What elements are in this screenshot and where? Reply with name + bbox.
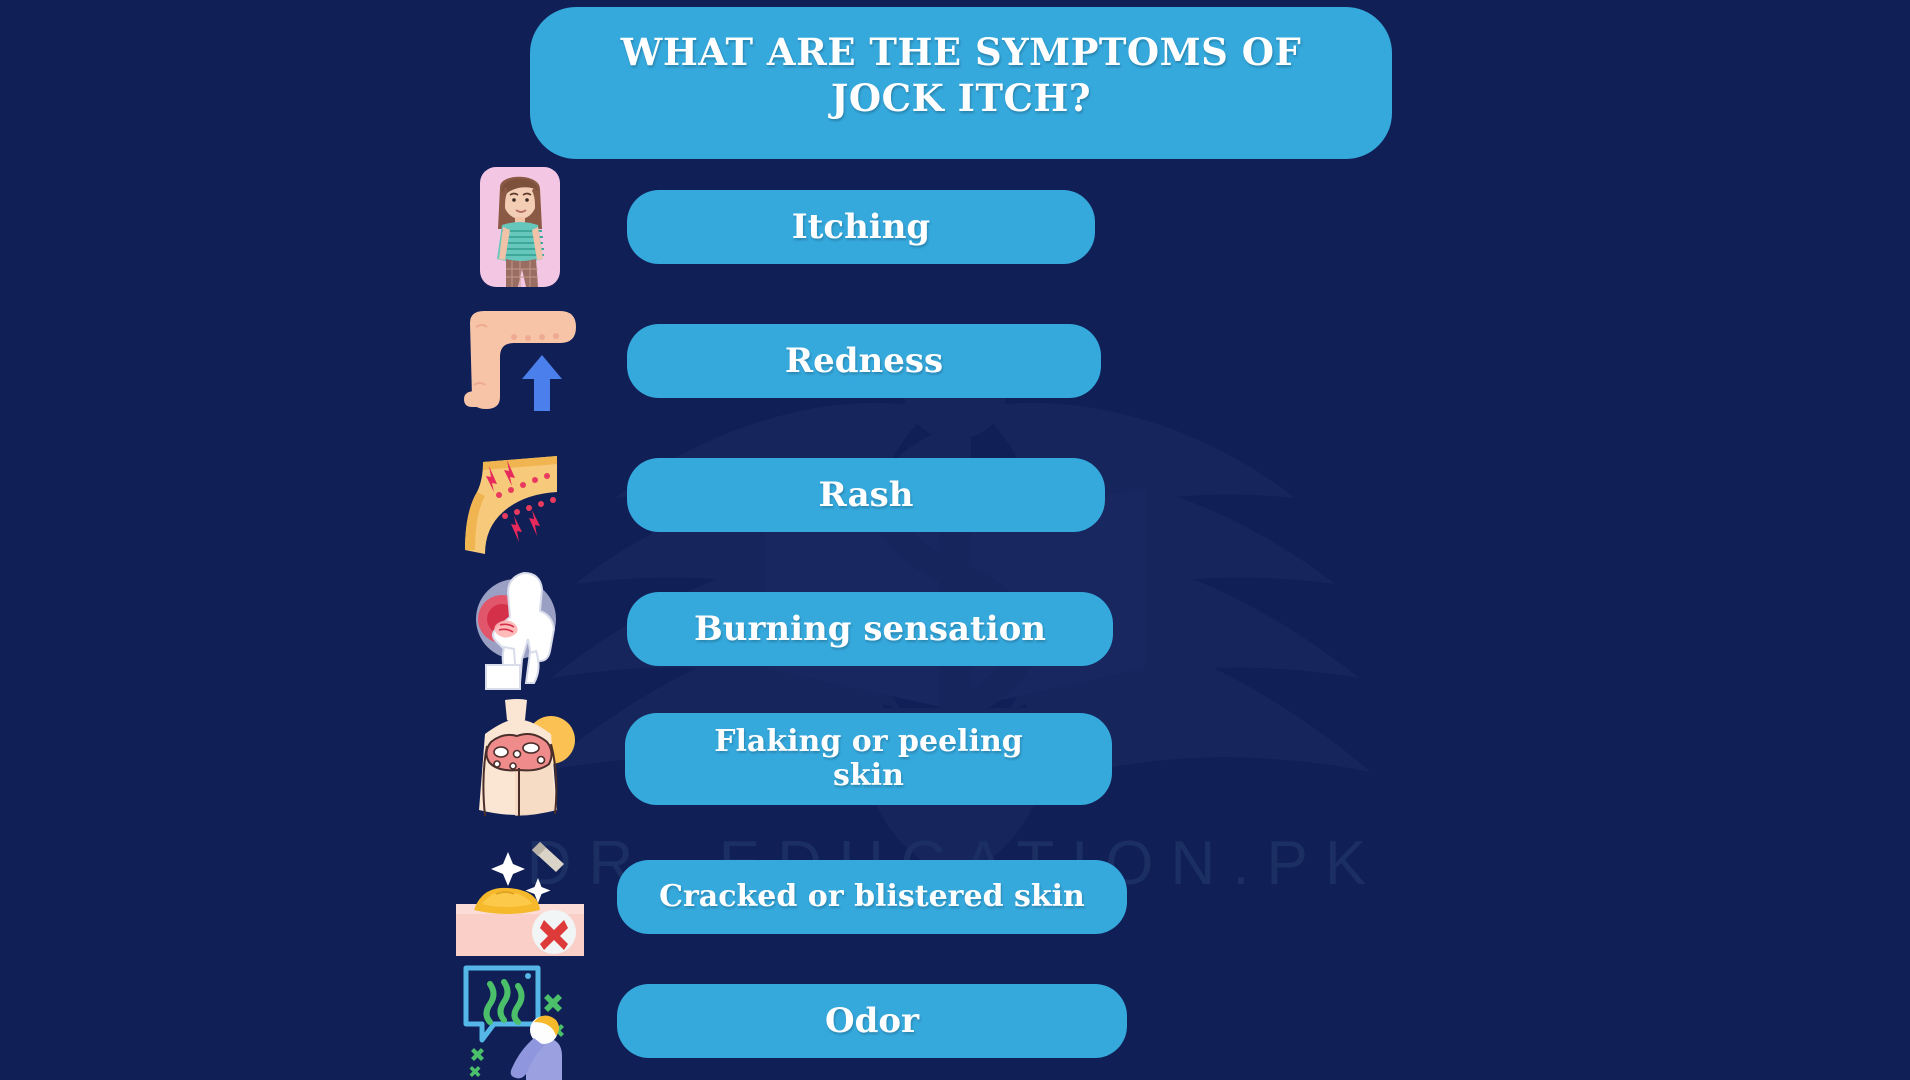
symptom-label: Itching <box>792 208 930 246</box>
symptom-pill-odor[interactable]: Odor <box>617 984 1127 1058</box>
symptom-label: Flaking or peeling skin <box>714 725 1023 792</box>
blistered-skin-cross-icon <box>455 838 585 956</box>
symptom-pill-cracked-blistered-skin[interactable]: Cracked or blistered skin <box>617 860 1127 934</box>
symptom-row-flaking-peeling-skin[interactable]: Flaking or peeling skin <box>455 700 1455 818</box>
symptom-pill-burning-sensation[interactable]: Burning sensation <box>627 592 1113 666</box>
symptom-row-burning-sensation[interactable]: Burning sensation <box>455 570 1455 688</box>
symptom-row-redness[interactable]: Redness <box>455 302 1455 420</box>
skin-rash-arrows-icon <box>455 436 585 554</box>
symptom-row-itching[interactable]: Itching <box>455 168 1455 286</box>
symptom-row-odor[interactable]: Odor <box>455 962 1455 1080</box>
symptom-label: Rash <box>819 476 914 514</box>
symptom-pill-itching[interactable]: Itching <box>627 190 1095 264</box>
symptom-row-rash[interactable]: Rash <box>455 436 1455 554</box>
burning-groin-pain-icon <box>455 570 585 688</box>
infographic-stage: WHAT ARE THE SYMPTOMS OF JOCK ITCH? <box>0 0 1910 1080</box>
symptom-row-cracked-blistered-skin[interactable]: Cracked or blistered skin <box>455 838 1455 956</box>
symptom-pill-flaking-peeling-skin[interactable]: Flaking or peeling skin <box>625 713 1112 805</box>
odor-speech-bubble-icon <box>455 962 585 1080</box>
symptom-label: Odor <box>825 1002 919 1040</box>
symptom-label: Redness <box>785 342 943 380</box>
peeling-skin-torso-icon <box>455 700 585 818</box>
woman-scratching-icon <box>455 168 585 286</box>
symptom-label: Burning sensation <box>694 610 1046 648</box>
symptom-pill-rash[interactable]: Rash <box>627 458 1105 532</box>
symptom-label: Cracked or blistered skin <box>659 880 1085 914</box>
title-banner: WHAT ARE THE SYMPTOMS OF JOCK ITCH? <box>530 7 1392 159</box>
red-leg-arrow-icon <box>455 302 585 420</box>
symptom-pill-redness[interactable]: Redness <box>627 324 1101 398</box>
page-title: WHAT ARE THE SYMPTOMS OF JOCK ITCH? <box>611 29 1311 122</box>
